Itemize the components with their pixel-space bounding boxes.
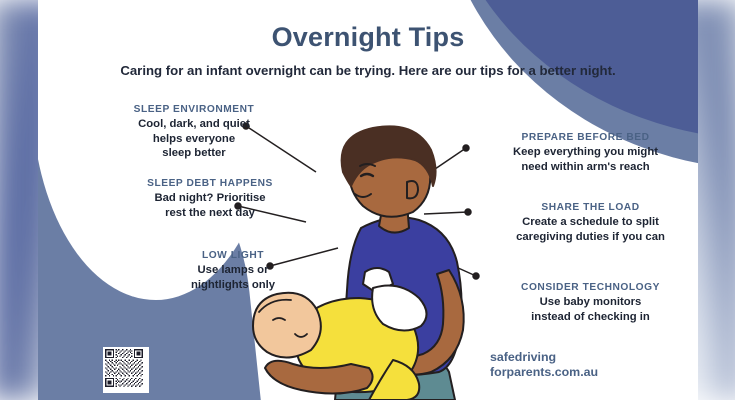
page-title: Overnight Tips [38, 22, 698, 53]
tip-heading: CONSIDER TECHNOLOGY [488, 282, 693, 293]
header: Overnight Tips Caring for an infant over… [38, 22, 698, 80]
qr-code-icon [105, 349, 143, 387]
tip-heading: LOW LIGHT [158, 250, 308, 261]
tip-heading: SLEEP ENVIRONMENT [104, 104, 284, 115]
infographic-screenshot: Overnight Tips Caring for an infant over… [0, 0, 735, 400]
tip-sleep-debt-happens: SLEEP DEBT HAPPENS Bad night? Prioritise… [120, 178, 300, 220]
tip-body: Use lamps or nightlights only [158, 263, 308, 292]
tip-low-light: LOW LIGHT Use lamps or nightlights only [158, 250, 308, 292]
tip-consider-technology: CONSIDER TECHNOLOGY Use baby monitors in… [488, 282, 693, 324]
page-subtitle: Caring for an infant overnight can be tr… [38, 62, 698, 80]
tip-body: Cool, dark, and quiet helps everyone sle… [104, 117, 284, 161]
tip-prepare-before-bed: PREPARE BEFORE BED Keep everything you m… [478, 132, 693, 174]
tip-heading: PREPARE BEFORE BED [478, 132, 693, 143]
brand-website-text: safedriving forparents.com.au [490, 350, 598, 380]
tip-body: Bad night? Prioritise rest the next day [120, 191, 300, 220]
tip-share-the-load: SHARE THE LOAD Create a schedule to spli… [483, 202, 698, 244]
infographic-card: Overnight Tips Caring for an infant over… [38, 0, 698, 400]
tip-body: Create a schedule to split caregiving du… [483, 215, 698, 244]
tip-heading: SLEEP DEBT HAPPENS [120, 178, 300, 189]
tip-heading: SHARE THE LOAD [483, 202, 698, 213]
tip-body: Use baby monitors instead of checking in [488, 295, 693, 324]
tip-body: Keep everything you might need within ar… [478, 145, 693, 174]
qr-code[interactable] [103, 347, 149, 393]
tip-sleep-environment: SLEEP ENVIRONMENT Cool, dark, and quiet … [104, 104, 284, 161]
